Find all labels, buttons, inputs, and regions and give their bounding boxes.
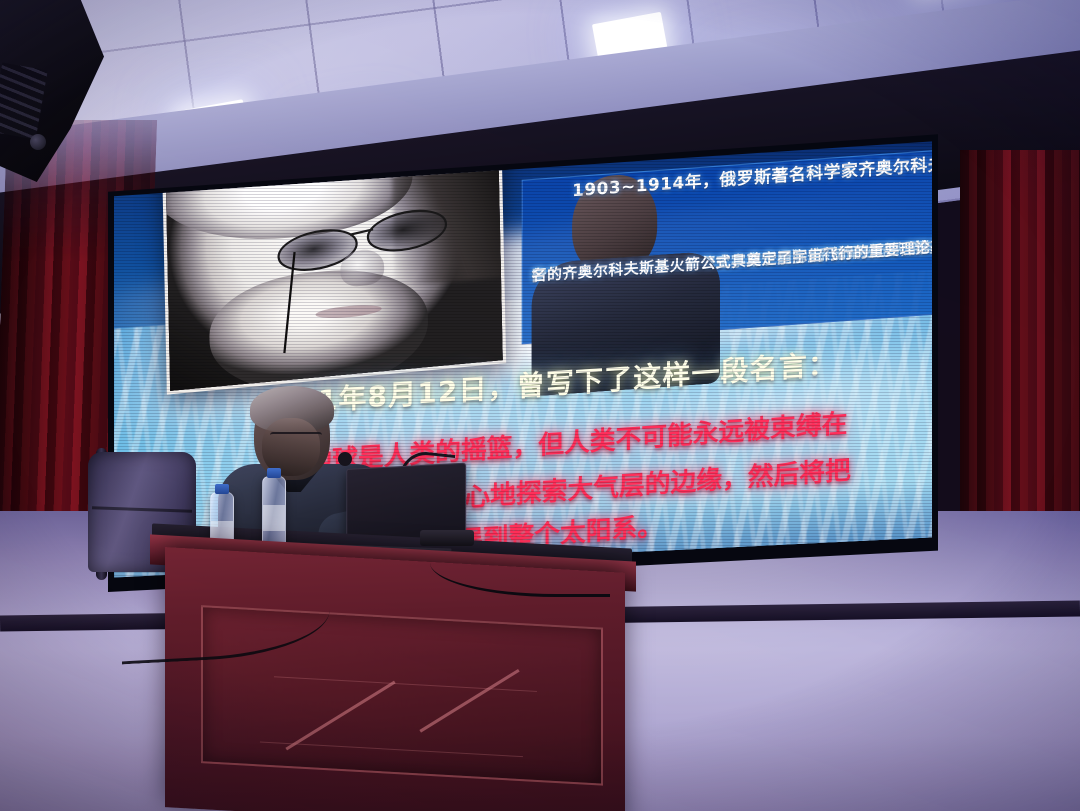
podium-inlay-diamond	[260, 676, 537, 757]
camera-rig-knob	[30, 134, 46, 150]
slide-text-panel: 1903~1914年，俄罗斯著名科学家齐奥尔科夫斯基发表了三篇 同名论文《利用喷…	[522, 146, 932, 345]
presenter-glasses	[270, 432, 322, 445]
microphone-base	[420, 530, 474, 546]
lecture-hall-photo: 1903~1914年，俄罗斯著名科学家齐奥尔科夫斯基发表了三篇 同名论文《利用喷…	[0, 0, 1080, 811]
microphone-head	[338, 452, 352, 466]
camera-rig-grip	[0, 63, 48, 140]
